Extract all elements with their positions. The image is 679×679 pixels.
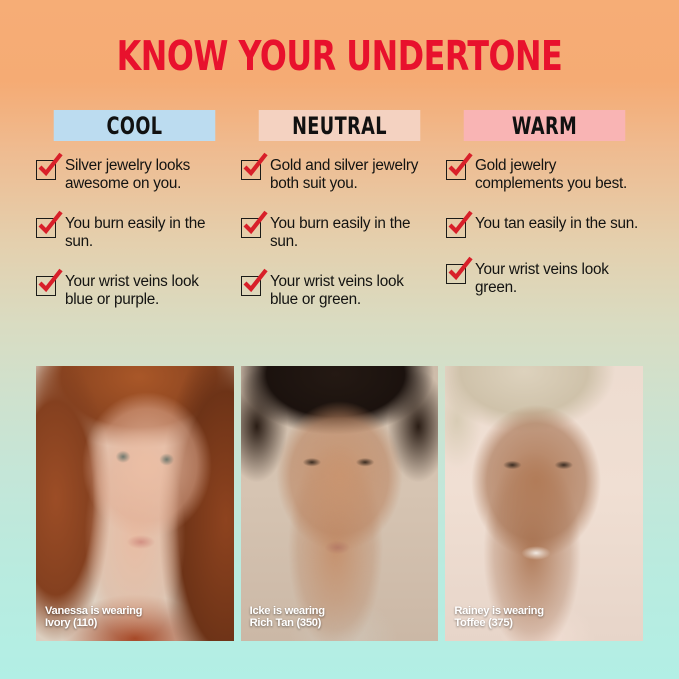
checkbox-checked[interactable] xyxy=(36,276,56,296)
checkmark-icon xyxy=(36,268,63,295)
checkbox-checked[interactable] xyxy=(241,218,261,238)
list-item[interactable]: Gold jewelry complements you best. xyxy=(446,157,639,192)
undertone-columns: COOL Silver jewelry looks awesome on you… xyxy=(36,110,643,331)
column-cool: COOL Silver jewelry looks awesome on you… xyxy=(36,110,233,331)
checklist-cool: Silver jewelry looks awesome on you. You… xyxy=(36,157,233,331)
checkmark-icon xyxy=(446,152,473,179)
checkbox-checked[interactable] xyxy=(446,160,466,180)
checkmark-icon xyxy=(241,268,268,295)
model-photo-rainey: Rainey is wearing Toffee (375) xyxy=(445,366,643,641)
checkmark-icon xyxy=(36,210,63,237)
list-item-label: Gold jewelry complements you best. xyxy=(475,157,639,192)
list-item[interactable]: You tan easily in the sun. xyxy=(446,215,639,238)
portrait-image-icke xyxy=(241,366,439,641)
list-item-label: Silver jewelry looks awesome on you. xyxy=(65,157,229,192)
column-neutral: NEUTRAL Gold and silver jewelry both sui… xyxy=(241,110,438,331)
list-item[interactable]: Silver jewelry looks awesome on you. xyxy=(36,157,229,192)
checkmark-icon xyxy=(446,256,473,283)
column-header-cool: COOL xyxy=(54,110,216,141)
checkbox-checked[interactable] xyxy=(36,218,56,238)
checklist-warm: Gold jewelry complements you best. You t… xyxy=(446,157,643,319)
checkbox-checked[interactable] xyxy=(241,276,261,296)
checkmark-icon xyxy=(241,152,268,179)
checkbox-checked[interactable] xyxy=(446,218,466,238)
checkmark-icon xyxy=(446,210,473,237)
caption-line-1: Icke is wearing xyxy=(250,605,325,618)
checkmark-icon xyxy=(241,210,268,237)
checkbox-checked[interactable] xyxy=(446,264,466,284)
caption-line-2: Ivory (110) xyxy=(45,617,142,630)
list-item-label: You burn easily in the sun. xyxy=(270,215,434,250)
model-photos: Vanessa is wearing Ivory (110) Icke is w… xyxy=(36,366,643,641)
photo-caption: Icke is wearing Rich Tan (350) xyxy=(250,605,325,630)
list-item[interactable]: Your wrist veins look blue or purple. xyxy=(36,273,229,308)
checkbox-checked[interactable] xyxy=(241,160,261,180)
column-warm: WARM Gold jewelry complements you best. xyxy=(446,110,643,331)
column-header-warm: WARM xyxy=(464,110,626,141)
photo-caption: Rainey is wearing Toffee (375) xyxy=(454,605,543,630)
list-item[interactable]: Your wrist veins look green. xyxy=(446,261,639,296)
undertone-infographic: KNOW YOUR UNDERTONE COOL Silver jewelry … xyxy=(0,0,679,679)
portrait-image-vanessa xyxy=(36,366,234,641)
caption-line-2: Rich Tan (350) xyxy=(250,617,325,630)
checkbox-checked[interactable] xyxy=(36,160,56,180)
checkmark-icon xyxy=(36,152,63,179)
list-item-label: Gold and silver jewelry both suit you. xyxy=(270,157,434,192)
list-item-label: You tan easily in the sun. xyxy=(475,215,638,233)
page-title: KNOW YOUR UNDERTONE xyxy=(48,32,632,80)
portrait-image-rainey xyxy=(445,366,643,641)
checklist-neutral: Gold and silver jewelry both suit you. Y… xyxy=(241,157,438,331)
column-header-neutral: NEUTRAL xyxy=(259,110,421,141)
list-item-label: You burn easily in the sun. xyxy=(65,215,229,250)
list-item[interactable]: Your wrist veins look blue or green. xyxy=(241,273,434,308)
list-item[interactable]: Gold and silver jewelry both suit you. xyxy=(241,157,434,192)
list-item-label: Your wrist veins look green. xyxy=(475,261,639,296)
model-photo-icke: Icke is wearing Rich Tan (350) xyxy=(241,366,439,641)
list-item-label: Your wrist veins look blue or green. xyxy=(270,273,434,308)
caption-line-2: Toffee (375) xyxy=(454,617,543,630)
list-item-label: Your wrist veins look blue or purple. xyxy=(65,273,229,308)
model-photo-vanessa: Vanessa is wearing Ivory (110) xyxy=(36,366,234,641)
caption-line-1: Vanessa is wearing xyxy=(45,605,142,618)
photo-caption: Vanessa is wearing Ivory (110) xyxy=(45,605,142,630)
list-item[interactable]: You burn easily in the sun. xyxy=(36,215,229,250)
list-item[interactable]: You burn easily in the sun. xyxy=(241,215,434,250)
caption-line-1: Rainey is wearing xyxy=(454,605,543,618)
